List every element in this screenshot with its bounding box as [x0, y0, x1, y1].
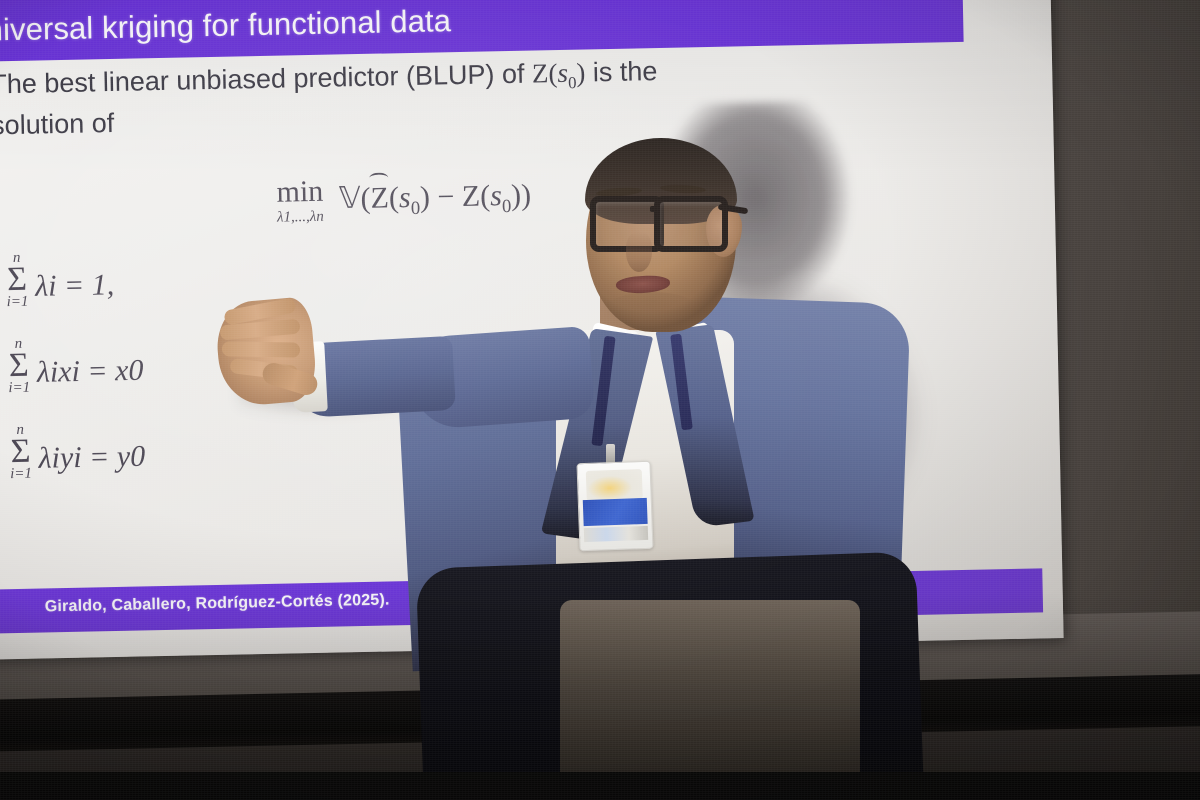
- constraint-list: n Σ i=1 λi = 1, n Σ i=1: [0, 248, 146, 509]
- constraint-expression: n Σ i=1 λi = 1,: [6, 249, 115, 310]
- min-subscript: λ1,...,λn: [277, 209, 324, 227]
- constraint-row: n Σ i=1 λixi = x0: [0, 334, 144, 396]
- projection-screen: Universal kriging for functional data Th…: [0, 0, 1064, 660]
- constraint-body: λixi = x0: [37, 354, 144, 389]
- summation-icon: n Σ i=1: [9, 422, 32, 481]
- constraint-row: n Σ i=1 λi = 1,: [0, 248, 142, 310]
- sum-sigma: Σ: [8, 352, 30, 381]
- lead-symbol: Z(s0): [532, 57, 586, 88]
- sum-lower: i=1: [8, 380, 30, 395]
- sum-lower: i=1: [10, 466, 32, 481]
- constraint-body: λi = 1,: [35, 268, 115, 303]
- presentation-slide: Universal kriging for functional data Th…: [0, 0, 1064, 660]
- summation-icon: n Σ i=1: [7, 337, 30, 396]
- summation-icon: n Σ i=1: [6, 251, 29, 310]
- objective-formula: min λ1,...,λn 𝕍(Z(s0) − Z(s0)): [276, 173, 531, 227]
- photo-scene: Universal kriging for functional data Th…: [0, 0, 1200, 800]
- lead-bullet-text: The best linear unbiased predictor (BLUP…: [0, 52, 659, 145]
- sum-lower: i=1: [7, 295, 29, 310]
- constraint-expression: n Σ i=1 λiyi = y0: [9, 420, 145, 482]
- min-label: min: [276, 177, 323, 208]
- constraint-expression: n Σ i=1 λixi = x0: [7, 334, 143, 396]
- constraint-body: λiyi = y0: [38, 439, 145, 474]
- sum-sigma: Σ: [6, 266, 28, 295]
- constraint-row: n Σ i=1 λiyi = y0: [0, 420, 146, 482]
- min-operator: min λ1,...,λn: [276, 177, 324, 227]
- lead-text-line2: solution of: [0, 108, 114, 140]
- lead-text-after: is the: [585, 56, 658, 87]
- slide-title: Universal kriging for functional data: [0, 3, 451, 49]
- lead-text-before: The best linear unbiased predictor (BLUP…: [0, 59, 532, 100]
- speaker-body-shadow: [606, 280, 943, 617]
- variance-args: (Z(s0) − Z(s0)): [360, 178, 531, 214]
- variance-operator: 𝕍: [339, 182, 361, 215]
- frame-bottom-edge: [0, 772, 1200, 800]
- sum-sigma: Σ: [9, 437, 31, 466]
